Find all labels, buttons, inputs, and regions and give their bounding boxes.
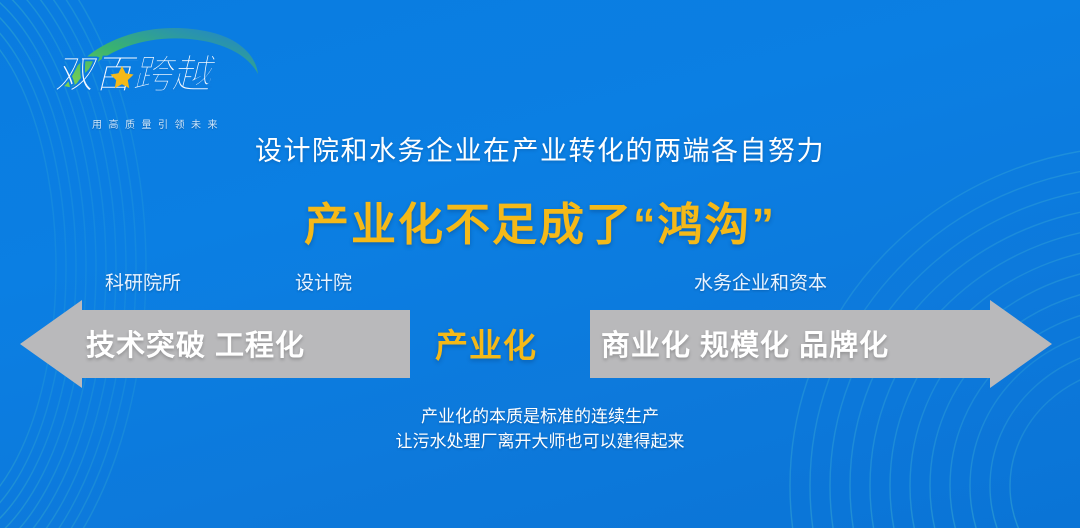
center-gap-text: 产业化 — [435, 319, 537, 367]
label-water-enterprises-capital: 水务企业和资本 — [694, 268, 827, 295]
brand-logo: 双百跨越 用高质量引领未来 — [52, 24, 267, 119]
presentation-slide: 双百跨越 用高质量引领未来 设计院和水务企业在产业转化的两端各自努力 产业化不足… — [0, 0, 1080, 528]
arrows-diagram: 技术突破 工程化 产业化 商业化 规模化 品牌化 — [0, 296, 1080, 392]
slide-caption: 产业化的本质是标准的连续生产 让污水处理厂离开大师也可以建得起来 — [0, 404, 1080, 454]
left-arrow-text: 技术突破 工程化 — [86, 322, 305, 364]
logo-wordmark: 双百跨越 — [54, 50, 264, 98]
slide-headline: 产业化不足成了“鸿沟” — [0, 188, 1080, 253]
caption-line-2: 让污水处理厂离开大师也可以建得起来 — [0, 429, 1080, 454]
label-design-institute: 设计院 — [295, 268, 352, 295]
label-research-institutes: 科研院所 — [105, 268, 181, 295]
caption-line-1: 产业化的本质是标准的连续生产 — [0, 404, 1080, 429]
arrow-labels-row: 科研院所 设计院 水务企业和资本 — [0, 268, 1080, 296]
svg-text:双百跨越: 双百跨越 — [54, 52, 217, 98]
right-arrow-text: 商业化 规模化 品牌化 — [601, 322, 889, 364]
slide-kicker: 设计院和水务企业在产业转化的两端各自努力 — [0, 129, 1080, 168]
